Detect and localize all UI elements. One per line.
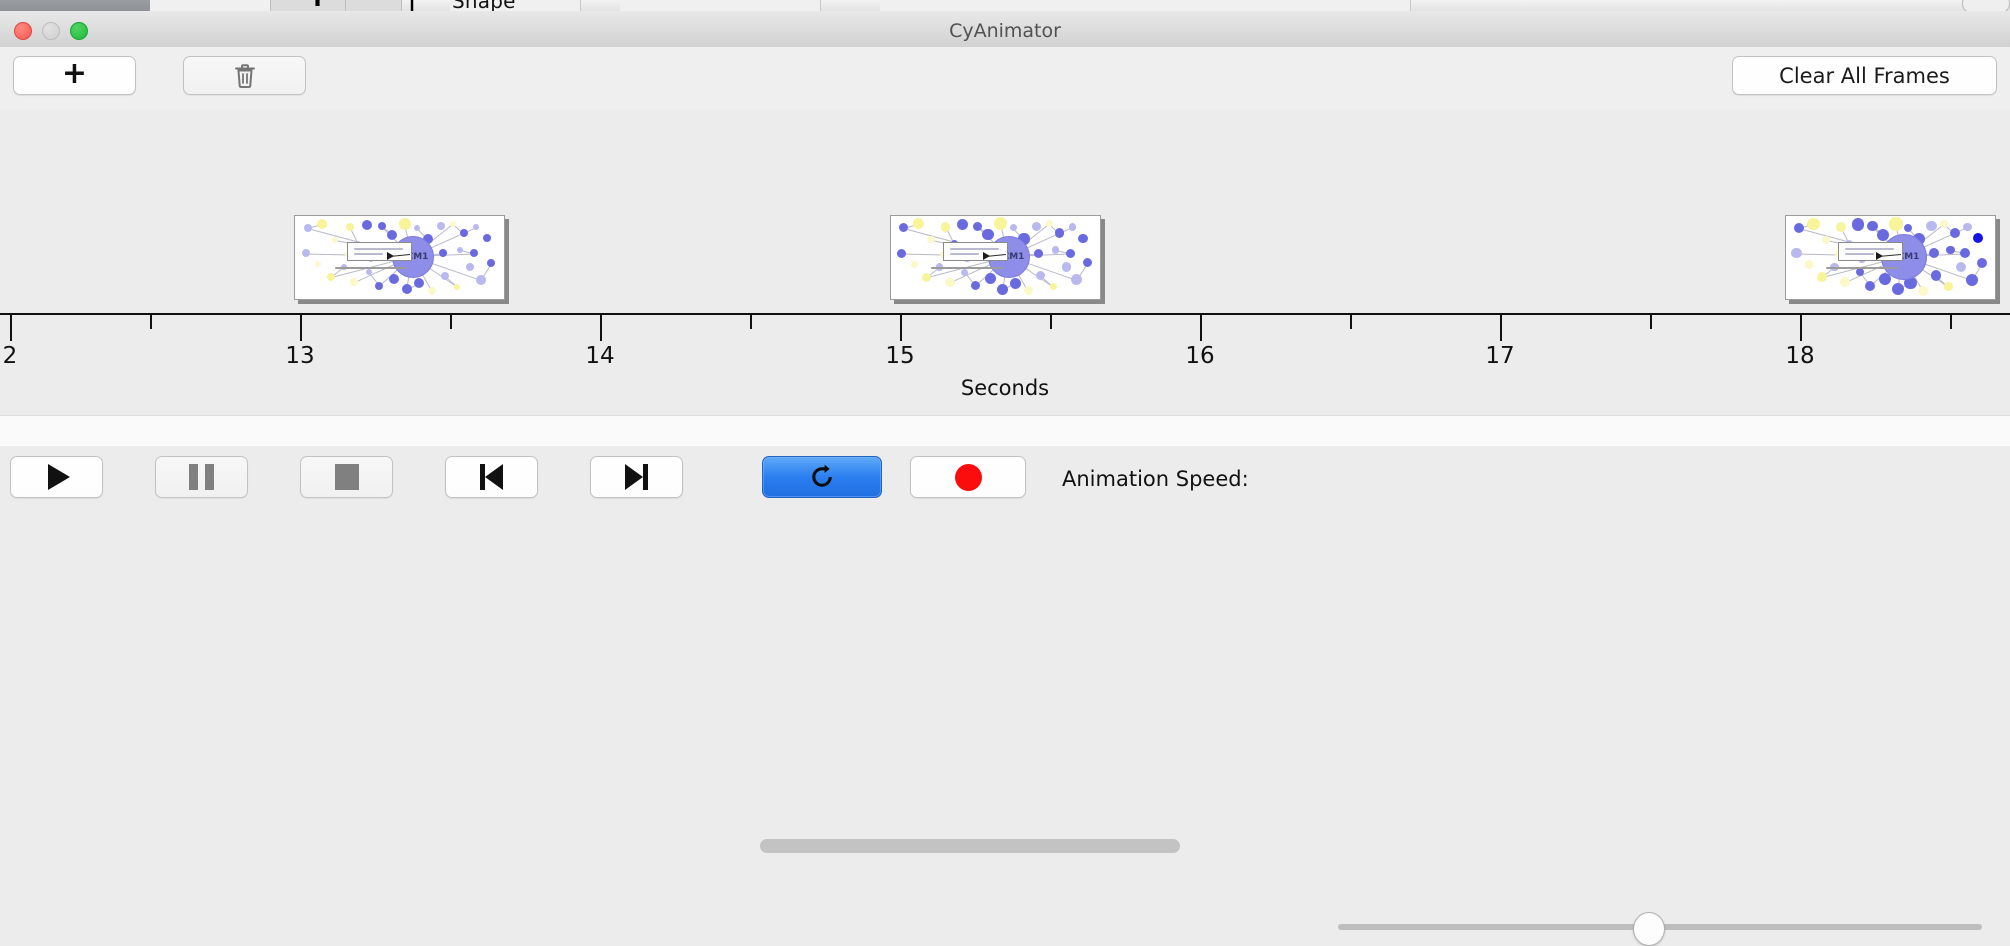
network-node (899, 223, 908, 232)
clear-all-frames-label: Clear All Frames (1779, 64, 1950, 88)
network-node (1055, 228, 1064, 237)
network-node (470, 249, 478, 257)
network-node (911, 261, 918, 268)
network-node (985, 273, 996, 284)
network-node (971, 281, 980, 290)
background-window-segment (150, 0, 211, 11)
timeline-ruler: 2131415161718 Seconds (0, 313, 2010, 415)
ruler-axis-label: Seconds (0, 376, 2010, 400)
plus-icon: + (62, 59, 87, 89)
callout-text-line (1845, 253, 1873, 255)
network-node (927, 236, 934, 243)
window-title: CyAnimator (0, 20, 2010, 42)
network-node (945, 278, 954, 287)
background-window-segment (1110, 0, 1411, 11)
delete-frame-button[interactable] (183, 56, 306, 95)
network-graph: MCM1 (295, 216, 504, 299)
record-icon (955, 464, 982, 491)
network-node (1867, 221, 1877, 231)
network-node (1956, 262, 1966, 272)
stop-icon (335, 464, 359, 490)
callout-text-line (950, 248, 999, 250)
background-window-strip: T | Shape (0, 0, 2010, 11)
network-node (378, 222, 386, 230)
network-node (375, 282, 383, 290)
ruler-tick-major (900, 315, 902, 341)
network-node (439, 249, 447, 257)
background-window-segment (880, 0, 1111, 11)
network-node (1877, 229, 1889, 241)
stop-button[interactable] (300, 456, 393, 498)
network-node (1950, 228, 1960, 238)
transport-bar: Animation Speed: (0, 446, 2010, 510)
ruler-tick-minor (450, 315, 452, 329)
ruler-tick-label: 16 (1185, 343, 1214, 369)
network-node (366, 269, 372, 275)
add-frame-button[interactable]: + (13, 56, 136, 95)
network-caption-text (931, 267, 1003, 269)
network-node (1010, 278, 1021, 289)
network-node (389, 274, 399, 284)
loop-button[interactable] (762, 456, 882, 498)
timeline-frame-thumbnail[interactable]: MCM1 (1785, 215, 1996, 300)
ruler-tick-minor (1950, 315, 1952, 329)
network-tooltip-callout (1838, 242, 1903, 261)
callout-arrow-icon (387, 252, 394, 260)
ruler-tick-minor (1350, 315, 1352, 329)
network-node (304, 224, 312, 232)
network-node (1066, 249, 1075, 258)
network-node (487, 259, 495, 267)
callout-arrow-icon (983, 252, 990, 260)
network-node (922, 273, 931, 282)
animation-speed-label: Animation Speed: (1062, 467, 1249, 491)
skip-forward-icon (625, 464, 648, 490)
network-node (1083, 258, 1092, 267)
network-node (1926, 221, 1936, 231)
network-node (957, 219, 968, 230)
network-node (362, 220, 372, 230)
network-node (1807, 218, 1819, 230)
network-node (1032, 222, 1041, 231)
network-node (1805, 260, 1813, 268)
record-button[interactable] (910, 456, 1026, 498)
background-window-segment (210, 0, 271, 11)
network-node (460, 229, 468, 237)
loop-icon (807, 462, 837, 492)
timeline-scrollbar-thumb[interactable] (760, 839, 1180, 853)
callout-arrow-icon (1876, 252, 1883, 260)
callout-text-line (354, 253, 382, 255)
network-node (1069, 223, 1076, 230)
network-node (941, 222, 950, 231)
background-window-tab (345, 0, 402, 11)
ruler-tick-label: 14 (585, 343, 614, 369)
network-node (457, 247, 463, 253)
ruler-tick-major (10, 315, 12, 341)
animation-speed-slider-thumb[interactable] (1633, 912, 1665, 946)
network-node (913, 218, 924, 229)
network-node (399, 218, 411, 230)
network-node (1078, 234, 1087, 243)
network-node (1940, 220, 1948, 228)
network-node (332, 237, 338, 243)
network-node (1062, 262, 1071, 271)
ruler-tick-major (300, 315, 302, 341)
network-caption-text (1826, 267, 1898, 269)
network-node (402, 284, 412, 294)
network-node (450, 221, 456, 227)
network-node (997, 284, 1008, 295)
network-node (1052, 246, 1059, 253)
network-node (1822, 236, 1830, 244)
network-node (441, 272, 449, 280)
ruler-tick-major (1200, 315, 1202, 341)
background-window-pill (1962, 0, 2010, 11)
callout-text-line (354, 248, 403, 250)
timeline-frame-thumbnail[interactable]: MCM1 (890, 215, 1101, 300)
network-node (1944, 282, 1952, 290)
network-node (1840, 277, 1850, 287)
background-window-label: Shape (452, 0, 516, 11)
network-node (1836, 222, 1846, 232)
network-node (483, 234, 491, 242)
network-node (317, 219, 327, 229)
network-graph: MCM1 (1786, 216, 1995, 299)
play-icon (48, 464, 70, 490)
title-bar: CyAnimator (0, 11, 2010, 48)
ruler-tick-label: 18 (1785, 343, 1814, 369)
cyanimator-window: T | Shape CyAnimator + Clear All Frames (0, 0, 2010, 510)
network-node (1791, 248, 1801, 258)
network-node (1918, 286, 1928, 296)
network-node (476, 275, 486, 285)
ruler-tick-minor (1650, 315, 1652, 329)
network-node (466, 263, 474, 271)
background-window-segment (620, 0, 821, 11)
pause-icon (189, 464, 214, 490)
network-node (1966, 274, 1978, 286)
network-tooltip-callout (347, 242, 412, 261)
network-node (350, 278, 358, 286)
timeline-scrollbar-track[interactable] (0, 415, 2010, 447)
network-node (428, 287, 436, 295)
network-caption-text (335, 267, 407, 269)
callout-text-line (950, 253, 978, 255)
ruler-tick-minor (1050, 315, 1052, 329)
network-node (1977, 258, 1987, 268)
network-node (315, 261, 321, 267)
ruler-tick-label: 13 (285, 343, 314, 369)
network-node (973, 222, 982, 231)
background-window-dark-header (0, 0, 150, 11)
network-node (437, 222, 445, 230)
ruler-tick-label: 15 (885, 343, 914, 369)
network-node (1973, 233, 1983, 243)
network-node (1852, 218, 1864, 230)
network-node (1865, 281, 1875, 291)
network-node (1889, 217, 1903, 231)
ruler-tick-major (1800, 315, 1802, 341)
network-node (1071, 274, 1082, 285)
pause-button[interactable] (155, 456, 248, 498)
background-window-tab (270, 0, 347, 11)
network-node (1946, 246, 1954, 254)
network-node (982, 229, 993, 240)
clear-all-frames-button[interactable]: Clear All Frames (1732, 56, 1997, 95)
skip-back-icon (480, 464, 503, 490)
ruler-tick-label: 17 (1485, 343, 1514, 369)
play-button[interactable] (10, 456, 103, 498)
previous-frame-button[interactable] (445, 456, 538, 498)
network-node (1960, 248, 1970, 258)
ruler-tick-major (1500, 315, 1502, 341)
network-node (1929, 248, 1939, 258)
network-node (414, 278, 424, 288)
network-node (1892, 283, 1904, 295)
network-node (327, 273, 335, 281)
network-node (1794, 223, 1804, 233)
ruler-tick-minor (150, 315, 152, 329)
network-node (346, 223, 354, 231)
ruler-tick-major (600, 315, 602, 341)
callout-text-line (1845, 248, 1894, 250)
network-node (897, 249, 906, 258)
background-window-glyph: T (310, 0, 325, 11)
timeline-frame-thumbnail[interactable]: MCM1 (294, 215, 505, 300)
timeline-canvas[interactable]: MCM1MCM1MCM1 (0, 109, 2010, 313)
network-node (1817, 272, 1827, 282)
network-node (994, 217, 1007, 230)
network-node (1963, 223, 1971, 231)
network-graph: MCM1 (891, 216, 1100, 299)
network-node (473, 224, 479, 230)
network-node (1046, 220, 1053, 227)
network-node (1024, 286, 1033, 295)
trash-icon (233, 62, 257, 90)
network-node (302, 249, 310, 257)
network-node (1931, 270, 1941, 280)
next-frame-button[interactable] (590, 456, 683, 498)
ruler-tick-label: 2 (3, 343, 18, 369)
network-node (387, 230, 397, 240)
network-node (454, 284, 460, 290)
ruler-tick-minor (750, 315, 752, 329)
network-node (1034, 249, 1043, 258)
network-tooltip-callout (943, 242, 1008, 261)
network-node (1050, 283, 1057, 290)
background-window-glyph: | (408, 0, 416, 11)
